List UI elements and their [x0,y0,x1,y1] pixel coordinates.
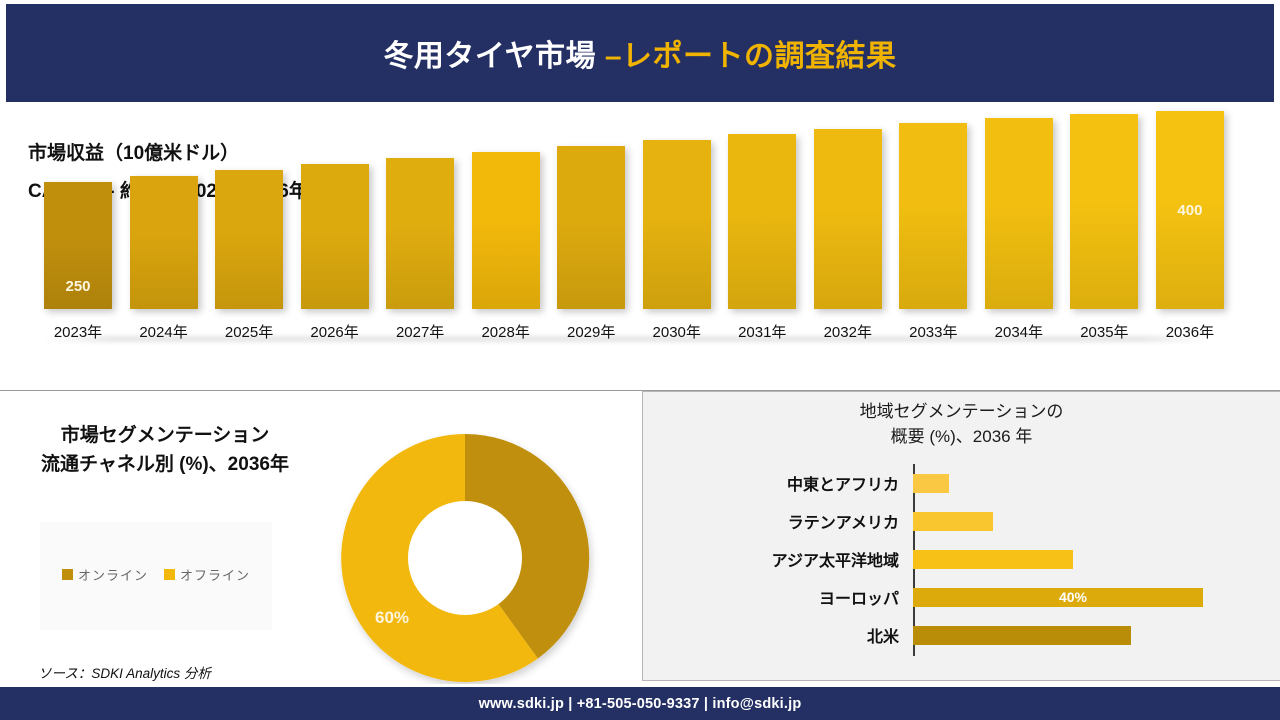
revenue-bar [472,152,540,309]
legend-label: オンライン [78,565,148,584]
page-title-main: 冬用タイヤ市場 [383,40,604,73]
revenue-bar-wrap [899,95,967,309]
region-bar-row: 北米 [643,616,1280,654]
revenue-bar-label: 2029年 [567,321,615,342]
revenue-bar-wrap [643,95,711,309]
revenue-bar-column: 2033年 [899,95,967,342]
page-title-accent: –レポートの調査結果 [605,40,897,73]
revenue-bar-label: 2032年 [824,321,872,342]
legend-item[interactable]: オンライン [62,565,148,584]
revenue-bar-column: 4002036年 [1156,95,1224,342]
region-title: 地域セグメンテーションの 概要 (%)、2036 年 [643,400,1280,449]
revenue-bar-label: 2034年 [995,321,1043,342]
region-bar-value: 40% [1059,589,1087,605]
revenue-bar-wrap [985,95,1053,309]
revenue-bar-group: 2502023年2024年2025年2026年2027年2028年2029年20… [44,120,1224,342]
revenue-bar-wrap [1070,95,1138,309]
region-bar-label: 中東とアフリカ [643,471,913,495]
page-header: 冬用タイヤ市場 –レポートの調査結果 [6,4,1274,102]
region-bar-track: 40% [913,578,1280,616]
revenue-bar-wrap [386,95,454,309]
revenue-bar-wrap [557,95,625,309]
revenue-bar-label: 2026年 [310,321,358,342]
infographic-page: 冬用タイヤ市場 –レポートの調査結果 市場収益（10億米ドル） CAGR％ - … [0,0,1280,720]
region-bar-track [913,464,1280,502]
page-title: 冬用タイヤ市場 –レポートの調査結果 [383,31,896,75]
revenue-bar [386,158,454,309]
region-bar [913,550,1073,569]
revenue-bar-wrap [130,95,198,309]
revenue-bar-column: 2035年 [1070,95,1138,342]
revenue-bar [215,170,283,309]
revenue-bar: 400 [1156,111,1224,309]
donut-value-offline: 60% [375,608,409,628]
segmentation-legend: オンラインオフライン [40,565,272,584]
region-title-line1: 地域セグメンテーションの [643,400,1280,425]
revenue-bar [557,146,625,309]
revenue-bar-column: 2034年 [985,95,1053,342]
legend-swatch-icon [62,569,73,580]
region-bar [913,626,1131,645]
donut-svg [335,432,603,684]
revenue-bar-wrap [814,95,882,309]
region-bar-row: ラテンアメリカ [643,502,1280,540]
region-panel: 地域セグメンテーションの 概要 (%)、2036 年 中東とアフリカラテンアメリ… [642,391,1280,681]
revenue-bar-column: 2025年 [215,95,283,342]
footer-contact: www.sdki.jp | +81-505-050-9337 | info@sd… [479,696,802,712]
channel-donut-chart: 60% [335,432,603,684]
region-bar-label: ヨーロッパ [643,585,913,609]
revenue-bar [643,140,711,309]
region-bar-label: ラテンアメリカ [643,509,913,533]
region-bar-label: アジア太平洋地域 [643,547,913,571]
revenue-bar-label: 2025年 [225,321,273,342]
revenue-bar-column: 2029年 [557,95,625,342]
revenue-bar-label: 2035年 [1080,321,1128,342]
revenue-bar-label: 2024年 [139,321,187,342]
revenue-bar-label: 2036年 [1166,321,1214,342]
revenue-bar [985,118,1053,309]
revenue-bar-label: 2033年 [909,321,957,342]
revenue-bar-wrap [301,95,369,309]
revenue-bar-label: 2027年 [396,321,444,342]
revenue-bar-column: 2027年 [386,95,454,342]
revenue-bar-wrap [472,95,540,309]
revenue-bar-wrap: 400 [1156,95,1224,309]
region-bar [913,512,993,531]
revenue-bar [814,129,882,309]
region-bar [913,474,949,493]
revenue-chart-panel: 市場収益（10億米ドル） CAGR％ - 約5%（2024―2036年） 250… [0,104,1280,390]
donut-slices [341,434,589,682]
segmentation-title: 市場セグメンテーション 流通チャネル別 (%)、2036年 [0,421,330,480]
region-bar-row: ヨーロッパ40% [643,578,1280,616]
revenue-bar-label: 2030年 [653,321,701,342]
legend-swatch-icon [164,569,175,580]
revenue-bar-column: 2024年 [130,95,198,342]
revenue-bar-column: 2032年 [814,95,882,342]
revenue-bar [728,134,796,309]
segmentation-title-line2: 流通チャネル別 (%)、2036年 [0,450,330,479]
region-bar-label: 北米 [643,623,913,647]
region-bar-track [913,502,1280,540]
revenue-bar-label: 2028年 [481,321,529,342]
revenue-bar-column: 2031年 [728,95,796,342]
revenue-bar-value: 400 [1156,202,1224,219]
region-bar-row: 中東とアフリカ [643,464,1280,502]
revenue-bar-label: 2023年 [54,321,102,342]
region-bar-row: アジア太平洋地域 [643,540,1280,578]
source-note: ソース：SDKI Analytics 分析 [38,662,211,682]
revenue-bar [130,176,198,309]
segmentation-title-line1: 市場セグメンテーション [0,421,330,450]
revenue-bar-wrap [215,95,283,309]
revenue-bar [1070,114,1138,309]
region-bar: 40% [913,588,1203,607]
revenue-bar-wrap: 250 [44,95,112,309]
revenue-bar-column: 2028年 [472,95,540,342]
revenue-bar-column: 2502023年 [44,95,112,342]
revenue-bar: 250 [44,182,112,309]
region-bar-group: 中東とアフリカラテンアメリカアジア太平洋地域ヨーロッパ40%北米 [643,464,1280,656]
donut-hole [408,501,522,615]
revenue-bar-column: 2026年 [301,95,369,342]
region-bar-track [913,616,1280,654]
legend-label: オフライン [180,565,250,584]
revenue-bar [899,123,967,309]
revenue-bar [301,164,369,309]
revenue-bar-value: 250 [44,278,112,295]
page-footer: www.sdki.jp | +81-505-050-9337 | info@sd… [0,687,1280,720]
revenue-bar-label: 2031年 [738,321,786,342]
region-bar-track [913,540,1280,578]
revenue-bar-wrap [728,95,796,309]
region-title-line2: 概要 (%)、2036 年 [643,425,1280,450]
revenue-bar-column: 2030年 [643,95,711,342]
legend-item[interactable]: オフライン [164,565,250,584]
